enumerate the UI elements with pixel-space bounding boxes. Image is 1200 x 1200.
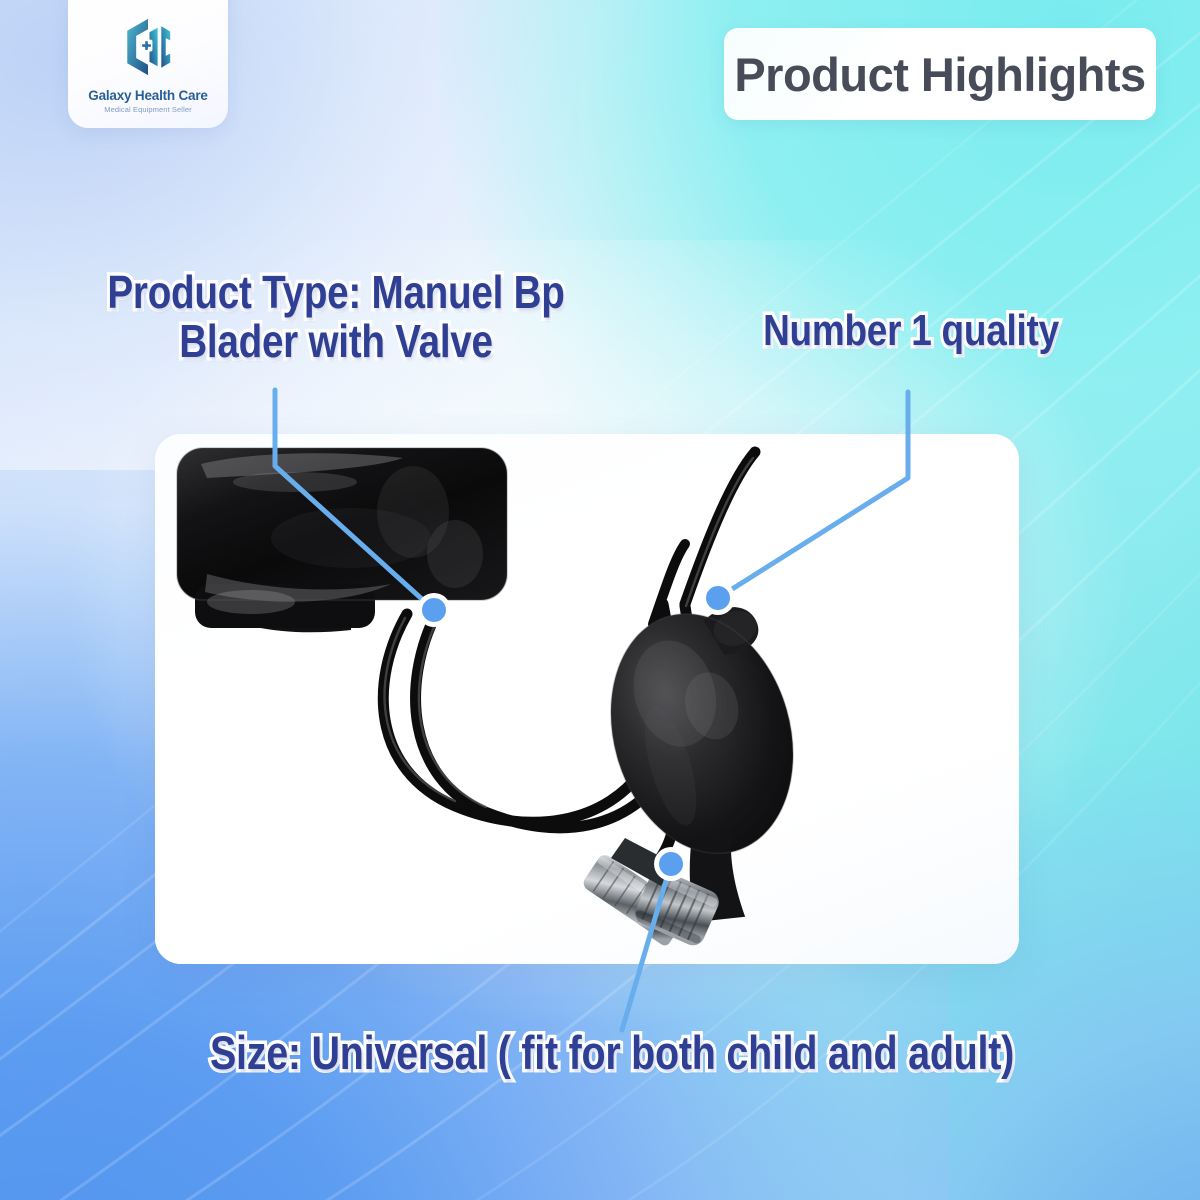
header-panel: Product Highlights (724, 28, 1156, 120)
ghc-hexagon-monogram-icon (111, 10, 185, 84)
product-image-card (155, 434, 1019, 964)
bladder-cuff (177, 448, 507, 632)
product-photo (155, 434, 1019, 964)
product-highlight-graphic: Galaxy Health Care Medical Equipment Sel… (0, 0, 1200, 1200)
brand-tagline: Medical Equipment Seller (104, 105, 191, 114)
brand-logo-card[interactable]: Galaxy Health Care Medical Equipment Sel… (68, 0, 228, 128)
brand-name: Galaxy Health Care (88, 88, 207, 103)
page-title: Product Highlights (734, 47, 1145, 102)
callout-label-size: Size: Universal ( fit for both child and… (209, 1028, 1015, 1078)
callout-label-quality: Number 1 quality (747, 308, 1075, 355)
callout-label-product-type: Product Type: Manuel Bp Blader with Valv… (101, 268, 571, 366)
